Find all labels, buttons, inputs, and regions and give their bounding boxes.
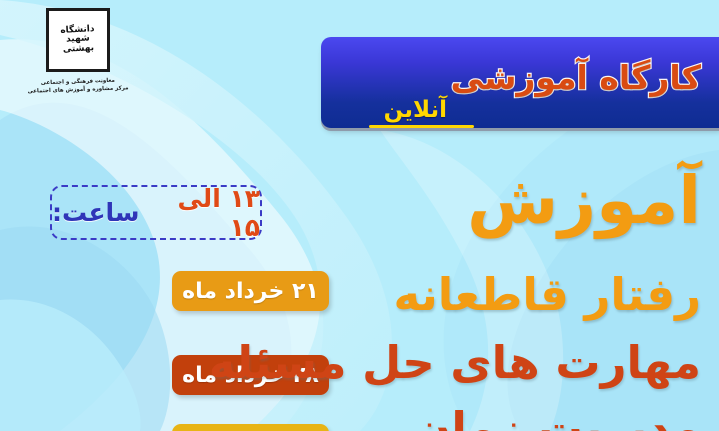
university-seal-icon: دانشگاه شهید بهشتی [46,8,110,72]
workshop-poster: دانشگاه شهید بهشتی معاونت فرهنگی و اجتما… [0,0,719,431]
workshop-banner: کارگاه آموزشی آنلاین [321,37,719,128]
time-box: ۱۳ الی ۱۵ ساعت: [50,185,262,240]
university-seal-text: دانشگاه شهید بهشتی [48,22,108,57]
headline-topic-3: مدیریت زمان [413,406,719,431]
banner-subtitle-underline [369,125,474,128]
time-value: ۱۳ الی ۱۵ [146,184,260,242]
university-subtitle: معاونت فرهنگی و اجتماعی مرکز مشاوره و آم… [18,76,139,97]
headline-topic-title: آموزش [467,168,719,234]
university-logo: دانشگاه شهید بهشتی معاونت فرهنگی و اجتما… [18,8,138,95]
banner-title: کارگاه آموزشی [451,61,701,94]
headline-topic-1: رفتار قاطعانه [394,272,719,317]
date-badge-3: ۴ تیر ماه [172,424,329,431]
headline-topic-2: مهارت های حل مسئله [209,340,719,385]
time-label: ساعت: [52,198,140,227]
date-badge-1: ۲۱ خرداد ماه [172,271,329,311]
banner-subtitle-online: آنلاین [384,99,447,122]
